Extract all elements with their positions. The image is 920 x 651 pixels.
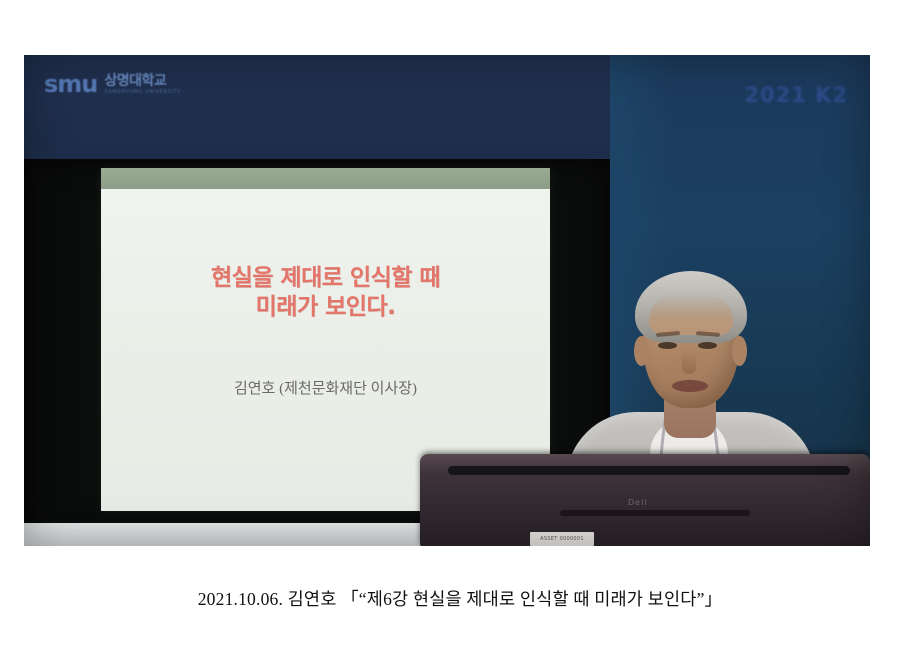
logo-wordmark: 상명대학교 SANGMYUNG UNIVERSITY — [104, 74, 180, 96]
presenter-ear-right — [732, 336, 747, 366]
document-page: 2021 K2 smu 상명대학교 SANGMYUNG UNIVERSITY 현… — [0, 0, 920, 651]
logo-english-name: SANGMYUNG UNIVERSITY — [104, 90, 180, 95]
logo-korean-name: 상명대학교 — [104, 74, 180, 88]
monitor-brand-label: Dell — [628, 498, 648, 507]
slide-header-band — [101, 168, 550, 189]
monitor-vent — [448, 466, 850, 475]
monitor-seam — [560, 510, 750, 516]
presenter-eye-left — [658, 342, 677, 349]
monitor-asset-sticker: ASSET 0000001 — [530, 532, 594, 546]
desk-surface — [24, 523, 424, 546]
slide-title-line-1: 현실을 제대로 인식할 때 — [101, 264, 550, 293]
presenter-mouth — [672, 380, 708, 392]
computer-monitor-rear: Dell ASSET 0000001 — [420, 454, 870, 546]
sangmyung-university-logo: smu 상명대학교 SANGMYUNG UNIVERSITY — [44, 72, 181, 96]
presenter-ear-left — [634, 336, 649, 366]
wall-overlay-text: 2021 K2 — [744, 83, 848, 107]
logo-mark-smu: smu — [44, 72, 97, 96]
photo-caption: 2021.10.06. 김연호 「“제6강 현실을 제대로 인식할 때 미래가 … — [0, 586, 920, 611]
presenter-hair — [635, 271, 747, 343]
lecture-photo: 2021 K2 smu 상명대학교 SANGMYUNG UNIVERSITY 현… — [24, 55, 870, 546]
presenter-nose — [682, 350, 696, 374]
presenter-eye-right — [698, 342, 717, 349]
slide-title-line-2: 미래가 보인다. — [101, 293, 550, 322]
slide-title: 현실을 제대로 인식할 때 미래가 보인다. — [101, 264, 550, 323]
monitor-asset-sticker-text: ASSET 0000001 — [530, 532, 594, 546]
slide-byline: 김연호 (제천문화재단 이사장) — [101, 377, 550, 398]
